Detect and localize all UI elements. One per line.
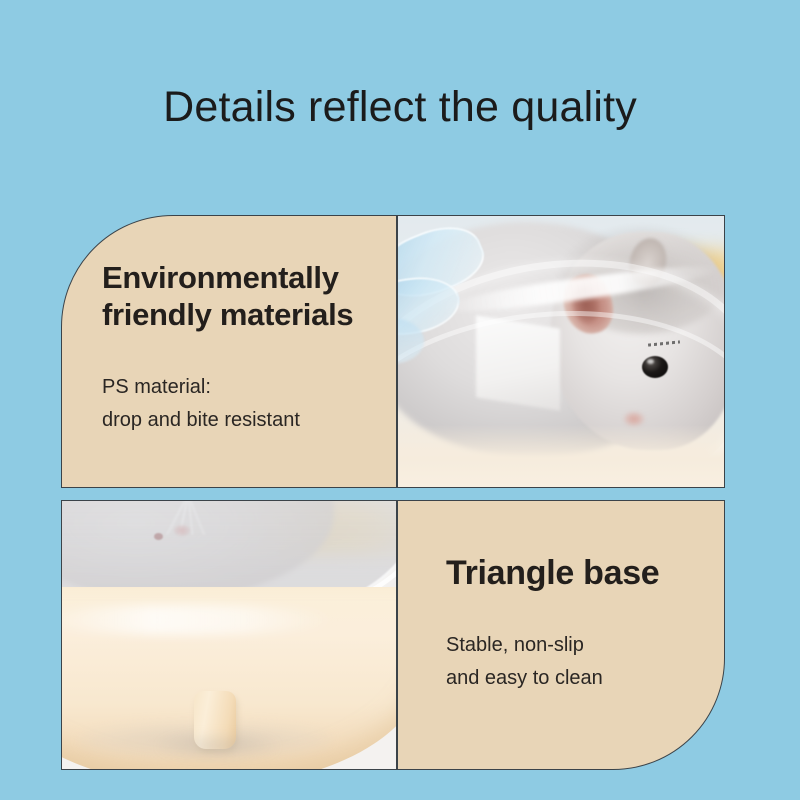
hamster-nose xyxy=(624,412,644,426)
hamster-eye-highlight xyxy=(647,359,654,364)
feature-body-line1: PS material: xyxy=(102,371,384,403)
feature-heading: Triangle base xyxy=(446,553,712,593)
product-detail-graphic: Details reflect the quality Environmenta… xyxy=(0,0,800,800)
photo-hamster-in-clear-wheel xyxy=(397,215,725,488)
feature-heading-line2: friendly materials xyxy=(102,297,353,332)
feature-text-block: Triangle base Stable, non-slip and easy … xyxy=(446,553,712,694)
feature-heading: Environmentally friendly materials xyxy=(102,260,384,333)
photo-canvas xyxy=(398,216,724,487)
cream-surface-bottom xyxy=(398,425,724,487)
feature-body: Stable, non-slip and easy to clean xyxy=(446,629,712,694)
feature-text-block: Environmentally friendly materials PS ma… xyxy=(102,260,384,436)
feature-body-line2: and easy to clean xyxy=(446,662,712,694)
feature-cell-environmentally-friendly: Environmentally friendly materials PS ma… xyxy=(61,215,397,488)
feature-heading-line1: Environmentally xyxy=(102,260,339,295)
photo-bowl-base-triangle-foot xyxy=(61,500,397,770)
feature-body-line2: drop and bite resistant xyxy=(102,404,384,436)
photo-canvas xyxy=(62,501,396,769)
hamster-eye xyxy=(642,356,668,378)
foot-drop-shadow xyxy=(158,733,278,759)
page-title: Details reflect the quality xyxy=(0,86,800,129)
feature-heading-line1: Triangle base xyxy=(446,554,659,592)
feature-body-line1: Stable, non-slip xyxy=(446,629,712,661)
feature-body: PS material: drop and bite resistant xyxy=(102,371,384,436)
feature-grid: Environmentally friendly materials PS ma… xyxy=(61,215,725,770)
feature-cell-triangle-base: Triangle base Stable, non-slip and easy … xyxy=(397,500,725,770)
